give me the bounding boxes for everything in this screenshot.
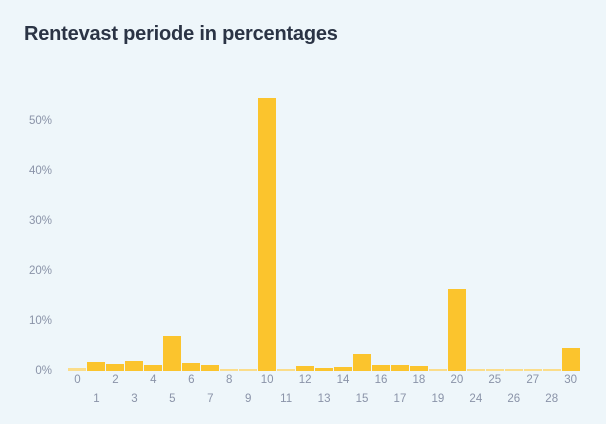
x-axis: 0123456789101112131415161718192024252627…	[68, 371, 580, 421]
x-axis-tick-label: 17	[394, 393, 407, 405]
x-axis-tick: 27	[523, 371, 542, 421]
x-axis-tick-label: 16	[375, 374, 388, 386]
x-axis-tick: 20	[447, 371, 466, 421]
x-axis-tick: 25	[485, 371, 504, 421]
bar-slot	[163, 96, 182, 371]
x-axis-tick-label: 28	[545, 393, 558, 405]
bar-slot	[277, 96, 296, 371]
bar[interactable]	[106, 364, 124, 371]
x-axis-tick-label: 24	[469, 393, 482, 405]
bar[interactable]	[448, 289, 466, 371]
bar-slot	[409, 96, 428, 371]
bar-slot	[523, 96, 542, 371]
bar-series	[68, 96, 580, 371]
x-axis-tick-label: 18	[413, 374, 426, 386]
bar-slot	[68, 96, 87, 371]
x-axis-tick: 2	[106, 371, 125, 421]
bar-slot	[315, 96, 334, 371]
bar[interactable]	[125, 361, 143, 371]
bar-slot	[239, 96, 258, 371]
x-axis-tick-label: 15	[356, 393, 369, 405]
x-axis-tick: 17	[390, 371, 409, 421]
x-axis-tick: 9	[239, 371, 258, 421]
bar-slot	[220, 96, 239, 371]
bar-slot	[372, 96, 391, 371]
bar[interactable]	[182, 363, 200, 372]
bar-slot	[353, 96, 372, 371]
x-axis-tick: 26	[504, 371, 523, 421]
bar-slot	[296, 96, 315, 371]
y-axis-tick-label: 0%	[35, 365, 52, 377]
bar[interactable]	[353, 354, 371, 371]
x-axis-tick-label: 25	[488, 374, 501, 386]
x-axis-tick: 18	[409, 371, 428, 421]
bar-slot	[106, 96, 125, 371]
y-axis: 0%10%20%30%40%50%	[0, 96, 62, 378]
x-axis-tick-label: 19	[431, 393, 444, 405]
bar-slot	[87, 96, 106, 371]
x-axis-tick-label: 1	[93, 393, 99, 405]
x-axis-tick: 10	[258, 371, 277, 421]
x-axis-tick: 4	[144, 371, 163, 421]
bar-slot	[201, 96, 220, 371]
x-axis-tick-label: 2	[112, 374, 118, 386]
bar[interactable]	[87, 362, 105, 371]
y-axis-tick-label: 30%	[29, 215, 52, 227]
x-axis-tick-label: 7	[207, 393, 213, 405]
x-axis-tick: 11	[277, 371, 296, 421]
bar[interactable]	[258, 98, 276, 371]
x-axis-tick-label: 27	[526, 374, 539, 386]
bar-slot	[258, 96, 277, 371]
x-axis-tick-label: 8	[226, 374, 232, 386]
x-axis-tick: 13	[315, 371, 334, 421]
x-axis-tick-label: 10	[261, 374, 274, 386]
x-axis-tick-label: 20	[450, 374, 463, 386]
x-axis-tick: 12	[296, 371, 315, 421]
bar[interactable]	[163, 336, 181, 371]
bar-slot	[390, 96, 409, 371]
x-axis-tick-label: 6	[188, 374, 194, 386]
x-axis-tick-label: 30	[564, 374, 577, 386]
bar-slot	[466, 96, 485, 371]
bar-slot	[542, 96, 561, 371]
x-axis-tick: 3	[125, 371, 144, 421]
x-axis-tick-label: 5	[169, 393, 175, 405]
bar-slot	[447, 96, 466, 371]
chart-title: Rentevast periode in percentages	[24, 23, 338, 46]
plot-area	[68, 96, 580, 371]
y-axis-tick-label: 50%	[29, 115, 52, 127]
x-axis-tick-label: 26	[507, 393, 520, 405]
x-axis-tick: 8	[220, 371, 239, 421]
x-axis-tick: 7	[201, 371, 220, 421]
x-axis-tick: 16	[372, 371, 391, 421]
x-axis-tick-label: 9	[245, 393, 251, 405]
x-axis-tick: 6	[182, 371, 201, 421]
bar[interactable]	[562, 348, 580, 371]
x-axis-tick: 5	[163, 371, 182, 421]
x-axis-tick-label: 13	[318, 393, 331, 405]
x-axis-tick-label: 14	[337, 374, 350, 386]
x-axis-tick: 0	[68, 371, 87, 421]
chart-card: Rentevast periode in percentages 0%10%20…	[0, 0, 606, 424]
x-axis-tick-label: 12	[299, 374, 312, 386]
x-axis-tick: 1	[87, 371, 106, 421]
x-axis-tick-label: 4	[150, 374, 156, 386]
y-axis-tick-label: 20%	[29, 265, 52, 277]
x-axis-tick: 28	[542, 371, 561, 421]
bar-slot	[334, 96, 353, 371]
x-axis-tick: 14	[334, 371, 353, 421]
x-axis-tick: 24	[466, 371, 485, 421]
y-axis-tick-label: 10%	[29, 315, 52, 327]
x-axis-tick: 19	[428, 371, 447, 421]
bar-slot	[428, 96, 447, 371]
x-axis-tick: 30	[561, 371, 580, 421]
bar-slot	[561, 96, 580, 371]
y-axis-tick-label: 40%	[29, 165, 52, 177]
x-axis-tick: 15	[353, 371, 372, 421]
x-axis-tick-label: 0	[74, 374, 80, 386]
bar-slot	[125, 96, 144, 371]
bar-slot	[144, 96, 163, 371]
bar-slot	[182, 96, 201, 371]
x-axis-tick-label: 11	[280, 393, 292, 405]
bar-slot	[485, 96, 504, 371]
bar-slot	[504, 96, 523, 371]
x-axis-tick-label: 3	[131, 393, 137, 405]
